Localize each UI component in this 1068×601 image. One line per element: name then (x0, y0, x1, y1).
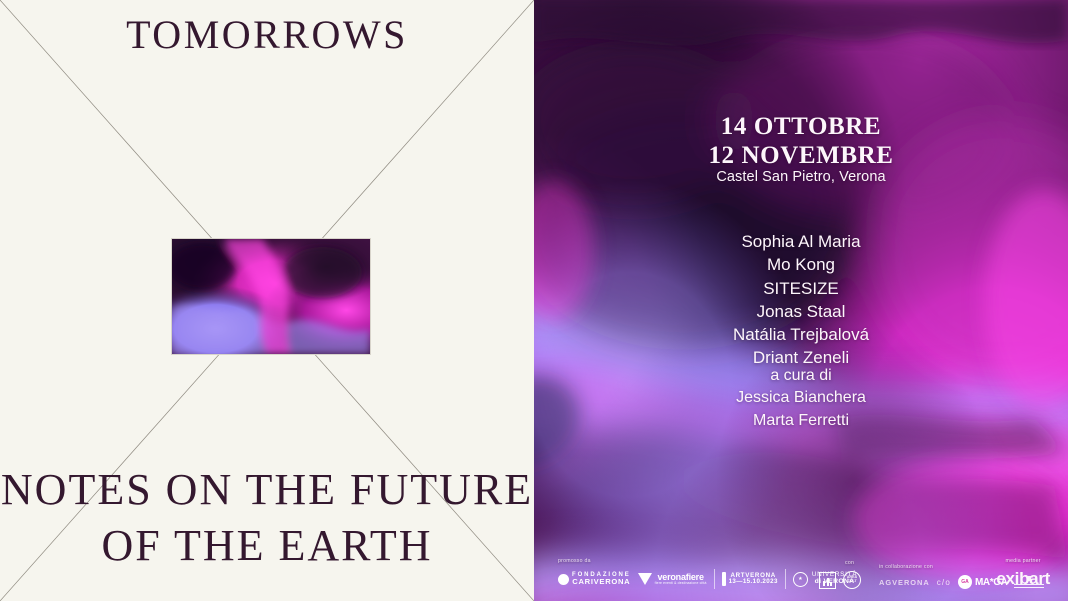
logo-divider (714, 569, 715, 589)
curator-item: Jessica Bianchera (534, 387, 1068, 409)
artist-list: Sophia Al Maria Mo Kong SITESIZE Jonas S… (534, 230, 1068, 370)
veronafiere-v-icon (638, 573, 652, 585)
artverona-line-2: 13—15.10.2023 (729, 579, 778, 585)
abstract-gradient-thumbnail (171, 238, 371, 355)
sponsor-label-promoted: promosso da (558, 558, 857, 564)
artist-item: SITESIZE (534, 277, 1068, 300)
artist-item: Mo Kong (534, 253, 1068, 276)
event-venue: Castel San Pietro, Verona (534, 169, 1068, 185)
crescent-moon-icon (558, 574, 569, 585)
curator-block: a cura di Jessica Bianchera Marta Ferret… (534, 365, 1068, 432)
artist-item: Sophia Al Maria (534, 230, 1068, 253)
maga-dot-icon: GA (958, 575, 972, 589)
left-panel: TOMORROWS (0, 0, 534, 601)
event-dates: 14 OTTOBRE 12 NOVEMBRE (534, 112, 1068, 170)
artist-item: Jonas Staal (534, 300, 1068, 323)
logo-divider (785, 569, 786, 589)
artverona-logo[interactable]: ARTVERONA 13—15.10.2023 (722, 572, 778, 586)
agverona-logo[interactable]: AGVERONA (879, 578, 930, 587)
page-title-tomorrows: TOMORROWS (0, 14, 534, 56)
curator-label: a cura di (534, 365, 1068, 387)
curator-item: Marta Ferretti (534, 410, 1068, 432)
sponsor-label-media: media partner (996, 558, 1050, 564)
veronafiere-logo[interactable]: veronafiere fiere eventi & destinazione … (638, 573, 707, 585)
university-seal-icon: ★ (793, 572, 808, 587)
artist-item: Natália Trejbalová (534, 323, 1068, 346)
exibart-logo[interactable]: exibart (996, 569, 1050, 589)
c-slash-o-logo[interactable]: c/o (937, 578, 951, 587)
right-panel-content: 14 OTTOBRE 12 NOVEMBRE Castel San Pietro… (534, 0, 1068, 601)
sponsor-group-media: media partner exibart (996, 558, 1050, 589)
right-panel: 14 OTTOBRE 12 NOVEMBRE Castel San Pietro… (534, 0, 1068, 601)
museo-box-logo[interactable] (819, 572, 836, 589)
artverona-bar-icon (722, 572, 726, 586)
sponsor-strip: promosso da FONDAZIONE CARIVERONA (534, 535, 1068, 593)
page-subtitle: NOTES ON THE FUTURE OF THE EARTH (0, 462, 534, 573)
poster-root: TOMORROWS (0, 0, 1068, 601)
sponsor-label-with: con (845, 560, 861, 566)
sponsor-group-with: con AREA CULT (819, 560, 861, 589)
date-line-2: 12 NOVEMBRE (534, 141, 1068, 170)
bars-icon (823, 577, 832, 586)
cariverona-line-2: CARIVERONA (572, 578, 631, 586)
subtitle-line-2: OF THE EARTH (0, 518, 534, 573)
veronafiere-line-2: fiere eventi & destinazione città (655, 582, 707, 585)
subtitle-line-1: NOTES ON THE FUTURE (0, 462, 534, 517)
date-line-1: 14 OTTOBRE (534, 112, 1068, 141)
fondazione-cariverona-logo[interactable]: FONDAZIONE CARIVERONA (558, 572, 631, 586)
circle-seal-logo[interactable]: AREA CULT (843, 571, 861, 589)
sponsor-group-promoted: promosso da FONDAZIONE CARIVERONA (558, 558, 857, 589)
